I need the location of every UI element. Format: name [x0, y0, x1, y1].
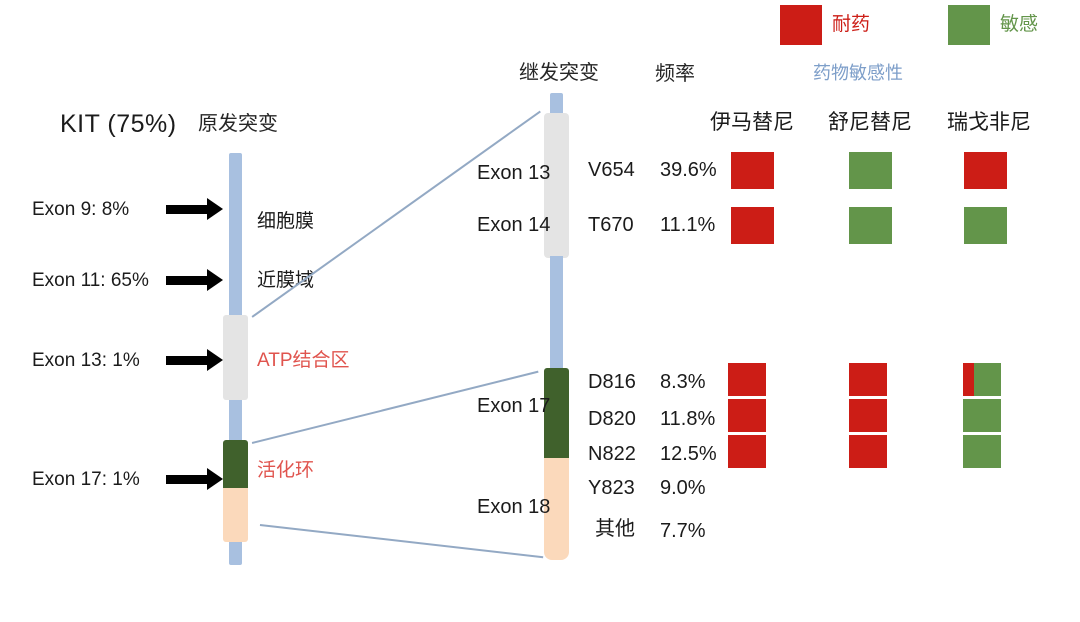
- connector-exon18-to-exon18: [260, 524, 543, 558]
- domain-label-cell-membrane: 细胞膜: [257, 212, 314, 231]
- sensitivity-cell-imatinib: [731, 152, 774, 189]
- header-frequency: 频率: [655, 64, 695, 84]
- middle-exon-label-14: Exon 14: [477, 215, 550, 235]
- drug-header-imatinib: 伊马替尼: [710, 112, 794, 133]
- mutation-name: D820: [588, 409, 636, 429]
- sensitivity-cell-sunitinib: [849, 152, 892, 189]
- drug-header-regorafenib: 瑞戈非尼: [947, 112, 1031, 133]
- mutation-frequency: 8.3%: [660, 372, 706, 392]
- middle-exon-label-18: Exon 18: [477, 497, 550, 517]
- mutation-name: 其他: [595, 519, 635, 539]
- secondary-segment-atp-binding: [544, 113, 569, 258]
- legend-swatch-resistant: [780, 5, 822, 45]
- exon-annotation-13: Exon 13: 1%: [32, 351, 140, 370]
- sensitivity-cell-sunitinib: [849, 207, 892, 244]
- cell-half-sensitive: [974, 363, 1001, 396]
- gene-title: KIT (75%): [60, 112, 177, 137]
- mutation-frequency: 9.0%: [660, 478, 706, 498]
- sensitivity-cell-imatinib: [731, 207, 774, 244]
- mutation-frequency: 11.8%: [660, 409, 715, 429]
- domain-segment-exon18: [223, 488, 248, 542]
- sensitivity-cell-sunitinib: [849, 399, 887, 432]
- middle-exon-label-13: Exon 13: [477, 163, 550, 183]
- arrow-exon-13: [166, 356, 208, 365]
- gist-kit-mutation-diagram: 耐药 敏感 继发突变 频率 药物敏感性 伊马替尼 舒尼替尼 瑞戈非尼 KIT (…: [0, 0, 1080, 622]
- middle-exon-label-17: Exon 17: [477, 396, 550, 416]
- sensitivity-cell-sunitinib: [849, 435, 887, 468]
- mutation-frequency: 12.5%: [660, 444, 717, 464]
- mutation-name: V654: [588, 160, 635, 180]
- mutation-frequency: 39.6%: [660, 160, 717, 180]
- sensitivity-cell-regorafenib: [963, 435, 1001, 468]
- cell-half-resistant: [963, 363, 974, 396]
- sensitivity-cell-imatinib: [728, 399, 766, 432]
- legend-label-sensitive: 敏感: [1000, 15, 1038, 34]
- sensitivity-cell-imatinib: [728, 363, 766, 396]
- mutation-frequency: 11.1%: [660, 215, 715, 235]
- arrow-exon-17: [166, 475, 208, 484]
- exon-annotation-11: Exon 11: 65%: [32, 271, 149, 290]
- drug-header-sunitinib: 舒尼替尼: [828, 112, 912, 133]
- exon-annotation-9: Exon 9: 8%: [32, 200, 129, 219]
- domain-segment-atp-binding: [223, 315, 248, 400]
- mutation-frequency: 7.7%: [660, 521, 706, 541]
- sensitivity-cell-regorafenib: [963, 363, 1001, 396]
- mutation-name: Y823: [588, 478, 635, 498]
- legend-label-resistant: 耐药: [832, 15, 870, 34]
- secondary-backbone: [550, 256, 563, 370]
- header-primary-mutation: 原发突变: [198, 114, 278, 134]
- sensitivity-cell-regorafenib: [963, 399, 1001, 432]
- sensitivity-cell-regorafenib: [964, 207, 1007, 244]
- domain-label-atp-binding: ATP结合区: [257, 351, 350, 370]
- header-drug-sensitivity: 药物敏感性: [813, 64, 903, 82]
- sensitivity-cell-regorafenib: [964, 152, 1007, 189]
- header-secondary-mutation: 继发突变: [519, 63, 599, 83]
- sensitivity-cell-sunitinib: [849, 363, 887, 396]
- mutation-name: D816: [588, 372, 636, 392]
- domain-segment-activation-loop: [223, 440, 248, 488]
- mutation-name: T670: [588, 215, 634, 235]
- domain-label-juxtamembrane: 近膜域: [257, 271, 314, 290]
- legend-swatch-sensitive: [948, 5, 990, 45]
- arrow-exon-11: [166, 276, 208, 285]
- mutation-name: N822: [588, 444, 636, 464]
- domain-label-activation-loop: 活化环: [257, 461, 314, 480]
- arrow-exon-9: [166, 205, 208, 214]
- exon-annotation-17: Exon 17: 1%: [32, 470, 140, 489]
- sensitivity-cell-imatinib: [728, 435, 766, 468]
